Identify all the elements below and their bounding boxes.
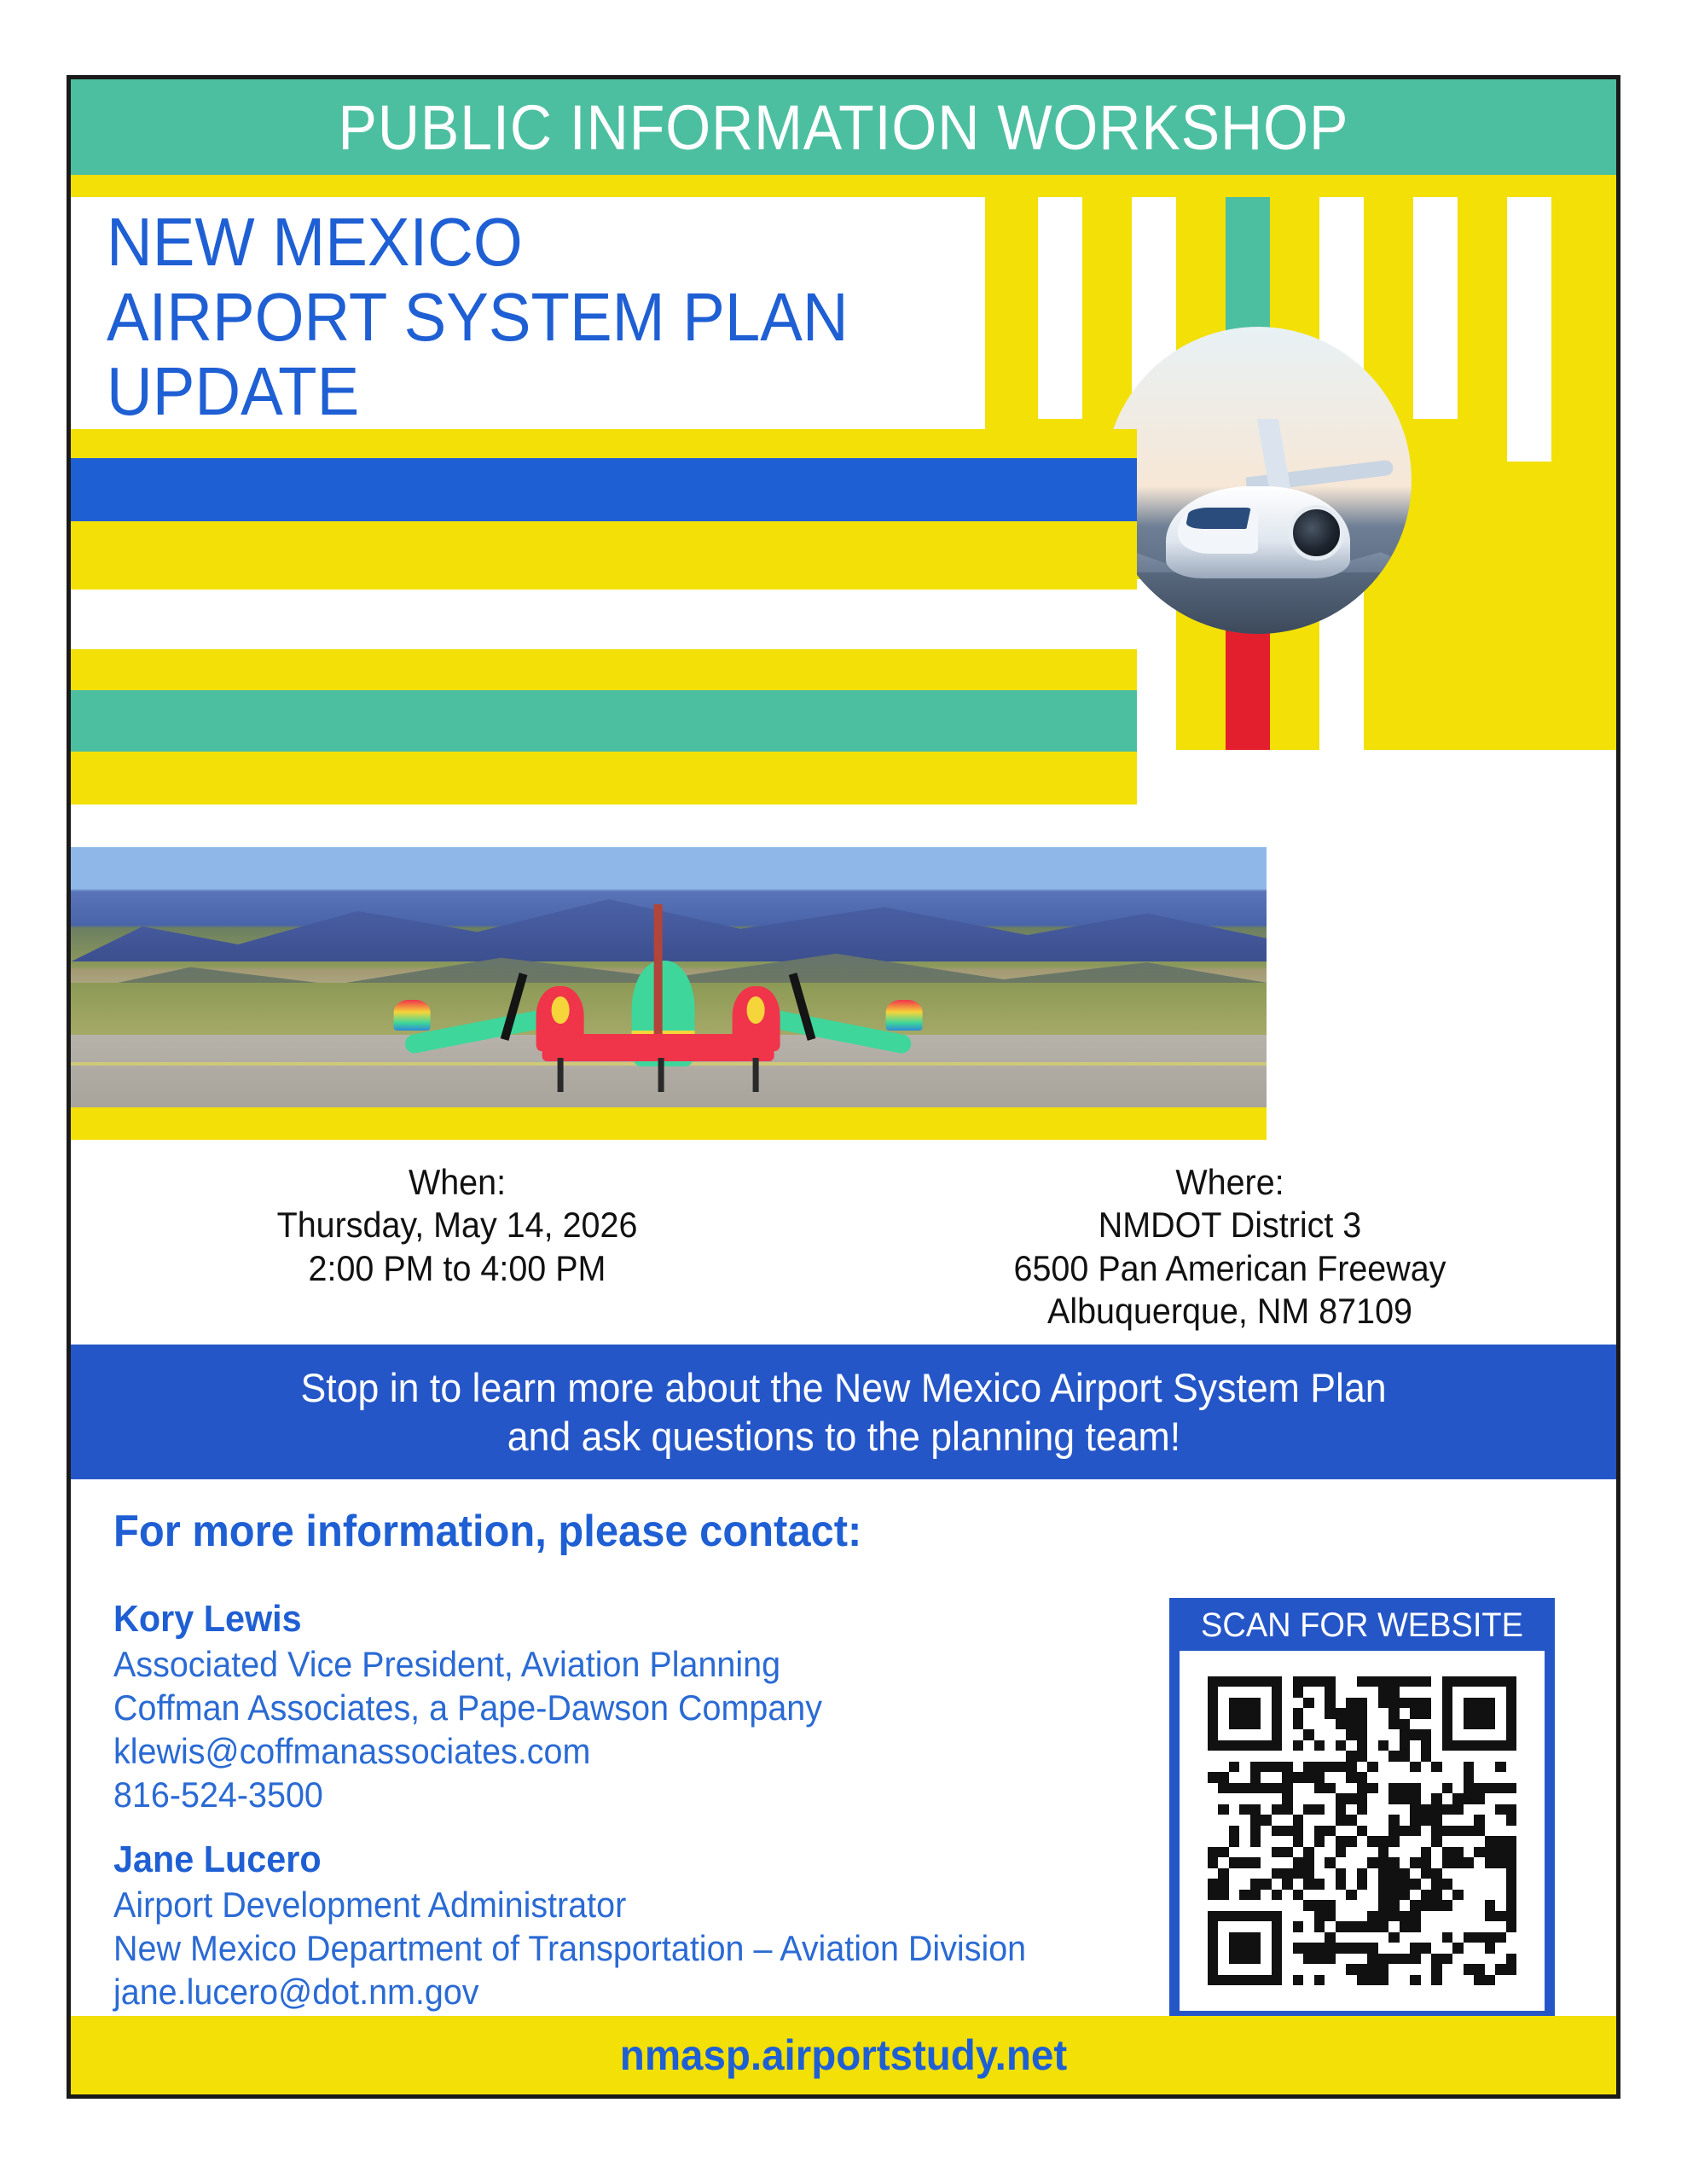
contact-heading: For more information, please contact: <box>113 1506 861 1557</box>
jet-engine <box>1289 505 1344 561</box>
where-label: Where: <box>867 1161 1593 1204</box>
photo-bottom-yellow-rule <box>71 1107 1267 1140</box>
flyer-page: PUBLIC INFORMATION WORKSHOP <box>0 0 1687 2184</box>
airplane-landscape-photo <box>71 847 1267 1107</box>
plane-tail-fin <box>654 904 663 1044</box>
jet-circle-photo <box>1104 327 1412 634</box>
contact-phone[interactable]: 816-524-3500 <box>113 1773 1116 1816</box>
plane-center-gear <box>658 1058 664 1092</box>
callout-line-2: and ask questions to the planning team! <box>507 1412 1180 1461</box>
event-details: When: Thursday, May 14, 2026 2:00 PM to … <box>71 1161 1616 1333</box>
contact-email[interactable]: klewis@coffmanassociates.com <box>113 1729 1116 1773</box>
contact-org: New Mexico Department of Transportation … <box>113 1926 1116 1970</box>
website-url[interactable]: nmasp.airportstudy.net <box>620 2030 1067 2080</box>
contact-org: Coffman Associates, a Pape-Dawson Compan… <box>113 1686 1116 1729</box>
header-banner: PUBLIC INFORMATION WORKSHOP <box>71 79 1616 175</box>
where-column: Where: NMDOT District 3 6500 Pan America… <box>843 1161 1616 1333</box>
qr-code-frame <box>1180 1651 1545 2011</box>
when-label: When: <box>94 1161 820 1204</box>
title-line-2: AIRPORT SYSTEM PLAN <box>107 282 963 352</box>
stripe-yellow-3 <box>71 649 1137 690</box>
stripe-yellow-2 <box>71 521 1137 590</box>
qr-code-block[interactable]: SCAN FOR WEBSITE <box>1169 1598 1555 2024</box>
contact-email[interactable]: jane.lucero@dot.nm.gov <box>113 1970 1116 2013</box>
decorative-stripes <box>71 429 1137 804</box>
stripe-yellow-1 <box>71 429 1137 458</box>
title-line-3: UPDATE <box>107 357 963 427</box>
when-time: 2:00 PM to 4:00 PM <box>94 1247 820 1290</box>
contact-name: Kory Lewis <box>113 1596 1116 1642</box>
stripe-teal <box>71 690 1137 752</box>
title-line-1: NEW MEXICO <box>107 207 963 277</box>
plane-right-gear <box>753 1058 759 1092</box>
contact-title: Associated Vice President, Aviation Plan… <box>113 1642 1116 1686</box>
plane-right-wingtip <box>885 1000 922 1031</box>
stripe-yellow-4 <box>71 752 1137 804</box>
page-title: NEW MEXICO AIRPORT SYSTEM PLAN UPDATE <box>107 207 1028 432</box>
jet-cockpit-window <box>1186 508 1251 529</box>
contact-block-kory-lewis: Kory Lewis Associated Vice President, Av… <box>113 1596 1180 1817</box>
footer-bar: nmasp.airportstudy.net <box>71 2016 1616 2094</box>
stripe-white <box>71 590 1137 649</box>
callout-banner: Stop in to learn more about the New Mexi… <box>71 1345 1616 1479</box>
zia-ray-gap-4 <box>1413 197 1458 419</box>
header-title: PUBLIC INFORMATION WORKSHOP <box>339 91 1349 164</box>
qr-code-image[interactable] <box>1208 1676 1516 1985</box>
callout-line-1: Stop in to learn more about the New Mexi… <box>300 1363 1386 1412</box>
contact-name: Jane Lucero <box>113 1837 1116 1883</box>
zia-ray-gap-1 <box>1038 197 1082 419</box>
where-street: 6500 Pan American Freeway <box>867 1247 1593 1290</box>
where-city: Albuquerque, NM 87109 <box>867 1290 1593 1333</box>
when-column: When: Thursday, May 14, 2026 2:00 PM to … <box>71 1161 843 1333</box>
propeller-airplane <box>394 921 923 1092</box>
contact-title: Airport Development Administrator <box>113 1883 1116 1926</box>
stripe-blue <box>71 458 1137 521</box>
flyer-frame: PUBLIC INFORMATION WORKSHOP <box>67 75 1620 2099</box>
when-date: Thursday, May 14, 2026 <box>94 1204 820 1246</box>
zia-ray-gap-5 <box>1507 197 1551 462</box>
plane-left-wingtip <box>394 1000 431 1031</box>
plane-right-spinner <box>746 996 765 1024</box>
plane-left-gear <box>558 1058 564 1092</box>
header-yellow-rule <box>71 175 1616 197</box>
where-venue: NMDOT District 3 <box>867 1204 1593 1246</box>
qr-label: SCAN FOR WEBSITE <box>1189 1606 1536 1644</box>
